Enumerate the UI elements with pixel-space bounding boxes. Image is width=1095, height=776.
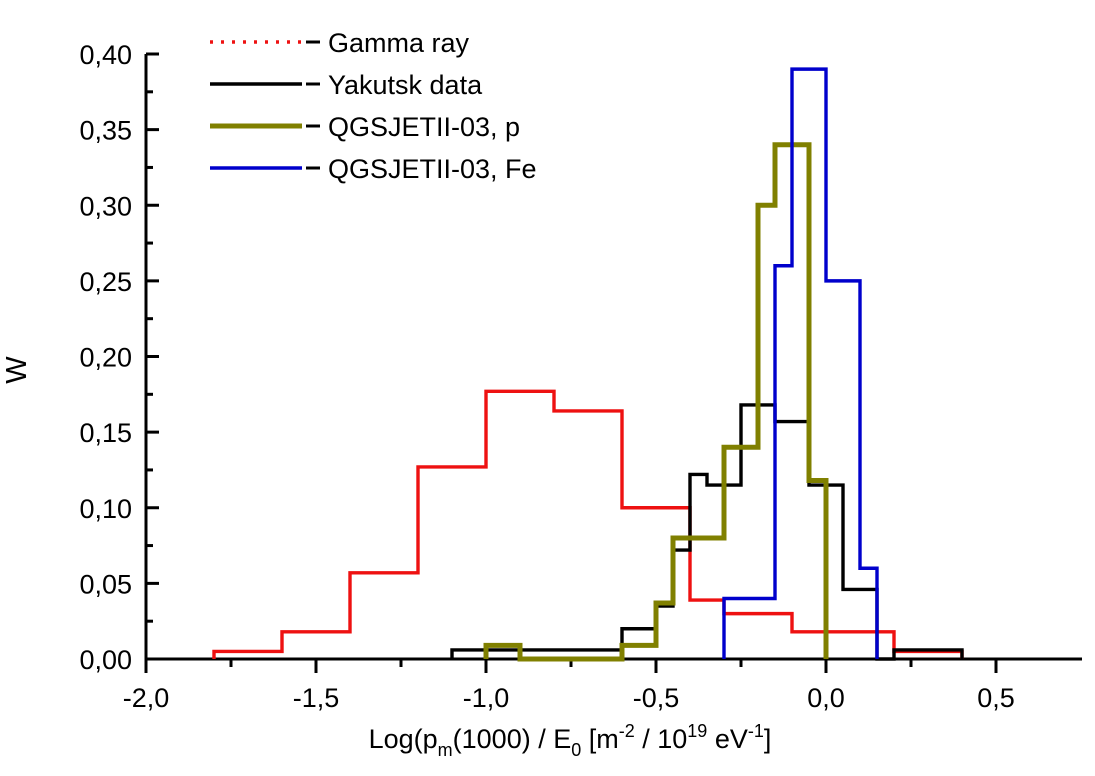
xlabel-part-1: Log(p — [369, 724, 438, 754]
legend-label-1: Yakutsk data — [328, 70, 483, 100]
xlabel-part-2: (1000) / E — [453, 724, 572, 754]
y-tick-label: 0,40 — [79, 40, 132, 70]
y-tick-label: 0,35 — [79, 116, 132, 146]
xlabel-part-3: [m — [581, 724, 619, 754]
legend-label-3: QGSJETII-03, Fe — [328, 154, 537, 184]
y-tick-label: 0,30 — [79, 191, 132, 221]
chart-root: 0,000,050,100,150,200,250,300,350,40 -2,… — [0, 0, 1095, 776]
xlabel-sup-m2: -2 — [619, 721, 635, 741]
xlabel-sub-m: m — [438, 740, 453, 760]
y-tick-label: 0,20 — [79, 343, 132, 373]
x-tick-label: -1,0 — [463, 683, 510, 713]
y-tick-label: 0,25 — [79, 267, 132, 297]
xlabel-part-4: / 10 — [635, 724, 688, 754]
y-tick-label: 0,05 — [79, 569, 132, 599]
xlabel-sup-m1: -1 — [748, 721, 764, 741]
x-tick-label: -0,5 — [633, 683, 680, 713]
x-tick-label: 0,0 — [807, 683, 845, 713]
y-tick-label: 0,10 — [79, 494, 132, 524]
y-tick-label: 0,15 — [79, 418, 132, 448]
y-axis-tick-labels: 0,000,050,100,150,200,250,300,350,40 — [79, 40, 132, 675]
y-axis-title: W — [1, 356, 33, 384]
histogram-chart: 0,000,050,100,150,200,250,300,350,40 -2,… — [0, 0, 1095, 776]
x-tick-label: -1,5 — [293, 683, 340, 713]
x-tick-label: -2,0 — [123, 683, 170, 713]
legend-label-0: Gamma ray — [328, 28, 470, 58]
legend-label-2: QGSJETII-03, p — [328, 112, 520, 142]
xlabel-part-6: ] — [764, 724, 772, 754]
xlabel-part-5: eV — [707, 724, 748, 754]
x-tick-label: 0,5 — [977, 683, 1015, 713]
xlabel-sub-0: 0 — [571, 740, 581, 760]
y-tick-label: 0,00 — [79, 645, 132, 675]
xlabel-sup-19: 19 — [687, 721, 707, 741]
